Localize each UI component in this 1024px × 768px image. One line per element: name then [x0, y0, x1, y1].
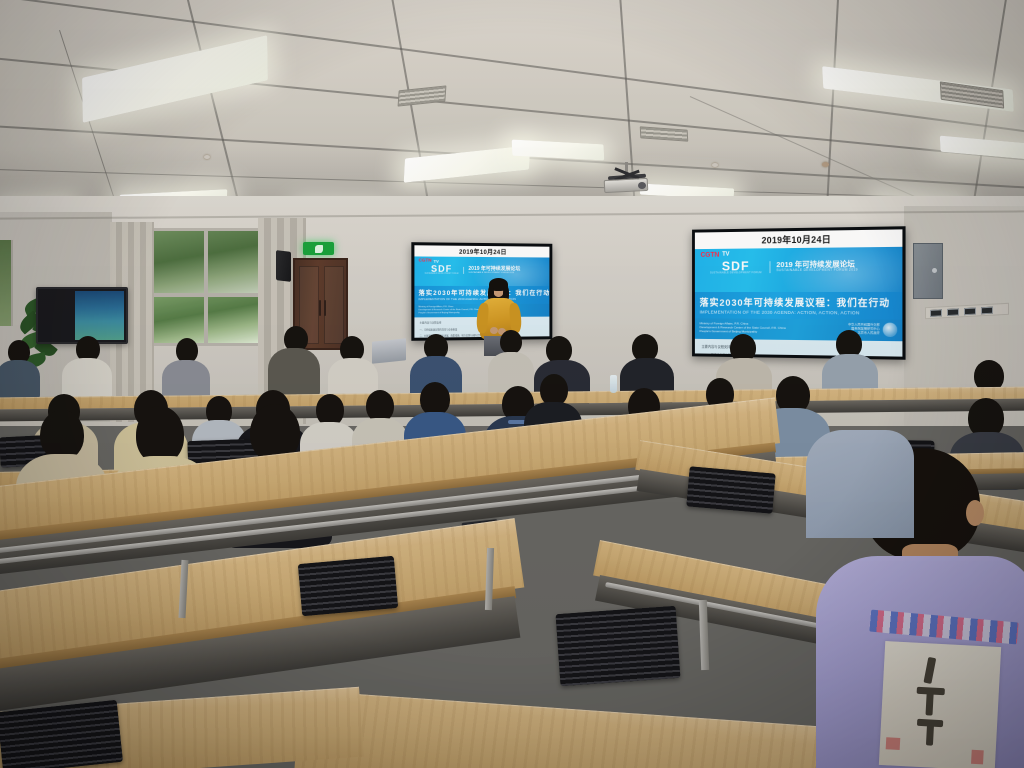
tv-suffix: TV	[722, 252, 729, 258]
forum-name-cn: 2019 年可持续发展论坛	[468, 267, 520, 273]
broadcaster-logo: CGTN	[419, 259, 432, 264]
print-calligraphy	[926, 723, 934, 745]
wall-socket[interactable]	[981, 306, 993, 314]
tshirt-graphic-print	[879, 641, 1001, 768]
laptop[interactable]	[372, 338, 406, 364]
ceiling-projector	[600, 162, 654, 196]
attendee-torso	[806, 430, 914, 538]
cabinet-latch	[932, 268, 937, 273]
attendee-grey-jacket	[806, 430, 916, 540]
print-seal	[886, 737, 901, 750]
window	[150, 228, 262, 346]
wall-speaker	[276, 250, 291, 282]
window-sliver	[0, 240, 13, 326]
chair[interactable]	[298, 556, 398, 616]
print-calligraphy	[923, 657, 936, 684]
sprinkler-head	[204, 155, 210, 159]
forum-logo-subtitle: SUSTAINABLE DEVELOPMENT FORUM	[710, 272, 762, 275]
print-calligraphy	[925, 691, 933, 715]
forum-name-en: SUSTAINABLE DEVELOPMENT FORUM 2019	[776, 269, 858, 273]
attendee-head	[40, 410, 84, 460]
wall-socket[interactable]	[930, 309, 942, 317]
water-bottle[interactable]	[610, 375, 617, 393]
sprinkler-head	[822, 162, 829, 167]
projector-lens	[638, 182, 646, 189]
wall-socket[interactable]	[964, 307, 976, 315]
slide-header-band: CGTN TV SDF SUSTAINABLE DEVELOPMENT FORU…	[695, 247, 903, 292]
forum-name-en: SUSTAINABLE DEVELOPMENT FORUM 2019	[468, 272, 520, 275]
door-handle[interactable]	[324, 300, 326, 316]
attendee-head	[500, 330, 522, 354]
window-mullion	[204, 231, 208, 343]
presenter-arm	[509, 303, 523, 334]
exit-sign	[303, 242, 334, 255]
forum-name-cn: 2019 年可持续发展论坛	[776, 261, 858, 269]
desk-row-foreground	[294, 690, 819, 768]
exit-runner-icon	[315, 245, 323, 253]
sprinkler-head	[712, 163, 718, 167]
broadcaster-logo: CGTN	[701, 252, 720, 259]
print-seal	[971, 750, 984, 765]
attendee-ear	[966, 500, 984, 526]
door-handle[interactable]	[319, 300, 321, 316]
wall-control-cabinet[interactable]	[913, 243, 943, 299]
slide-title-block: 落实2030年可持续发展议程：我们在行动 IMPLEMENTATION OF T…	[695, 292, 903, 320]
classroom-photo: 2019年10月24日 CGTN TV SDF SUSTAINABLE DEVE…	[0, 0, 1024, 768]
chair[interactable]	[0, 700, 123, 768]
slide-title-cn: 落实2030年可持续发展议程：我们在行动	[700, 295, 898, 309]
chair[interactable]	[686, 466, 775, 513]
chair[interactable]	[556, 606, 681, 686]
forum-logo-subtitle: SUSTAINABLE DEVELOPMENT FORUM	[425, 274, 459, 276]
slide-title-en: IMPLEMENTATION OF THE 2030 AGENDA: ACTIO…	[700, 310, 898, 316]
wall-socket[interactable]	[947, 308, 959, 316]
